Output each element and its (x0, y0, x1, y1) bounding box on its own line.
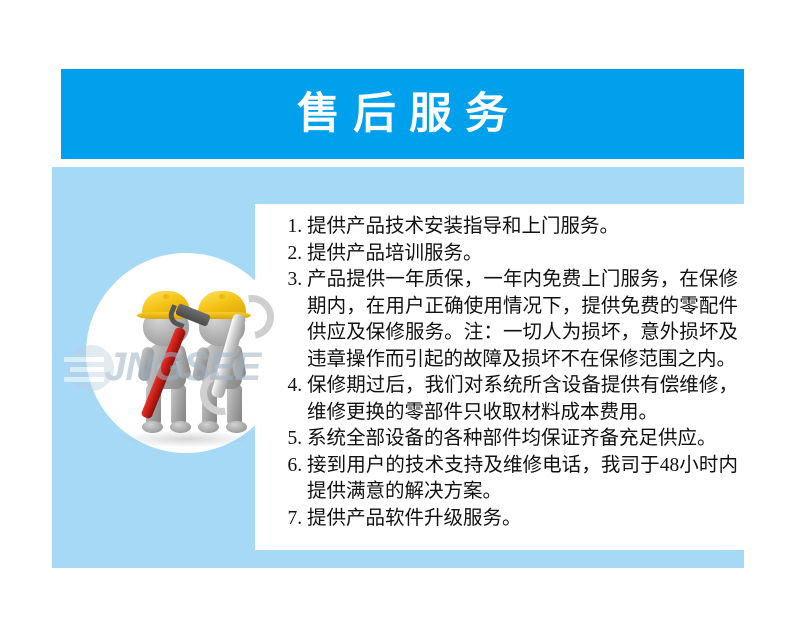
foot-right-b (226, 421, 247, 433)
list-item: 保修期过后，我们对系统所含设备提供有偿维修，维修更换的零部件只收取材料成本费用。 (307, 373, 738, 426)
list-item: 提供产品技术安装指导和上门服务。 (307, 214, 738, 241)
illustration-ground-shadow (126, 431, 246, 447)
page-title: 售后服务 (284, 93, 521, 136)
leg-right-a (171, 383, 186, 425)
worker-figure-with-wrench (186, 283, 264, 435)
list-item: 系统全部设备的各种部件均保证齐备充足供应。 (307, 426, 738, 453)
list-item: 产品提供一年质保，一年内免费上门服务，在保修期内，在用户正确使用情况下，提供免费… (307, 267, 738, 373)
list-item: 提供产品培训服务。 (307, 241, 738, 268)
hard-hat-knob-a (163, 294, 169, 299)
page-root: 售后服务 (0, 0, 803, 639)
foot-left-a (142, 421, 163, 433)
service-list-card: 提供产品技术安装指导和上门服务。 提供产品培训服务。 产品提供一年质保，一年内免… (255, 204, 744, 550)
list-item: 提供产品软件升级服务。 (307, 506, 738, 533)
list-item: 接到用户的技术支持及维修电话，我司于48小时内提供满意的解决方案。 (307, 453, 738, 506)
header-banner: 售后服务 (61, 69, 744, 159)
content-panel: 提供产品技术安装指导和上门服务。 提供产品培训服务。 产品提供一年质保，一年内免… (52, 167, 744, 568)
service-list: 提供产品技术安装指导和上门服务。 提供产品培训服务。 产品提供一年质保，一年内免… (265, 214, 738, 532)
hard-hat-knob-b (219, 294, 225, 299)
foot-left-b (198, 421, 219, 433)
foot-right-a (170, 421, 191, 433)
